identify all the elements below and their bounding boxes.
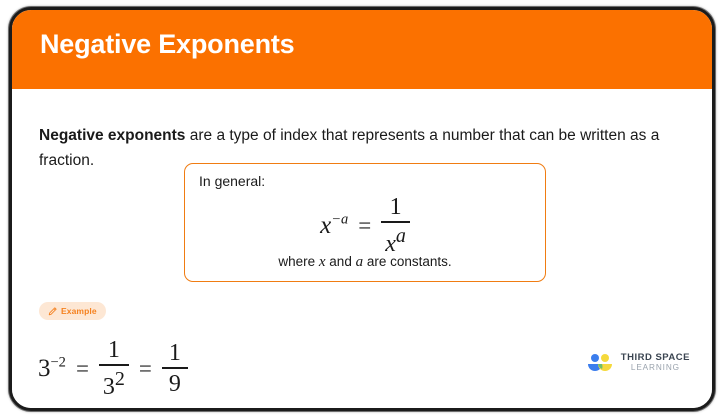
note-var-x: x (319, 254, 326, 270)
example-lhs-exponent: −2 (51, 354, 66, 370)
example-mid-denominator-base: 3 (103, 374, 115, 400)
general-lhs-base: x (320, 212, 331, 239)
card-header: Negative Exponents (12, 10, 712, 89)
logo-text: THIRD SPACE LEARNING (621, 353, 690, 372)
example-mid-denominator-exponent: 2 (115, 368, 125, 390)
general-rhs-numerator: 1 (386, 195, 406, 221)
general-lhs-exponent: −a (331, 211, 348, 227)
general-rhs-denominator-exponent: a (396, 225, 406, 247)
logo-line-2: LEARNING (631, 364, 680, 373)
intro-bold-lead: Negative exponents (39, 127, 185, 144)
example-badge: Example (39, 302, 106, 320)
lesson-card: Negative Exponents Negative exponents ar… (9, 7, 715, 411)
third-space-learning-logo: THIRD SPACE LEARNING (586, 352, 690, 374)
example-equals-2: = (138, 357, 153, 380)
note-var-a: a (356, 254, 364, 270)
general-label: In general: (199, 173, 265, 189)
general-rhs-denominator: xa (381, 223, 410, 256)
example-lhs-base: 3 (38, 355, 51, 382)
example-mid-fraction: 1 32 (99, 338, 129, 399)
pencil-icon (48, 307, 57, 316)
general-formula-box: In general: x−a = 1 xa where x and a are… (184, 163, 546, 282)
screenshot-root: Negative Exponents Negative exponents ar… (0, 0, 724, 420)
general-rhs-fraction: 1 xa (381, 195, 410, 256)
example-rhs-fraction: 1 9 (162, 341, 188, 396)
note-middle: and (326, 254, 356, 269)
example-badge-label: Example (61, 306, 97, 316)
general-equals: = (357, 214, 372, 237)
note-prefix: where (278, 254, 319, 269)
logo-mark-icon (586, 352, 614, 374)
general-lhs: x−a (320, 213, 348, 238)
example-equals-1: = (75, 357, 90, 380)
general-note: where x and a are constants. (185, 254, 545, 271)
general-formula: x−a = 1 xa (185, 195, 545, 256)
example-mid-denominator: 32 (99, 366, 129, 399)
example-mid-numerator: 1 (104, 338, 124, 364)
general-rhs-denominator-base: x (385, 231, 396, 257)
example-rhs-denominator: 9 (165, 369, 185, 396)
example-equation: 3−2 = 1 32 = 1 9 (38, 338, 188, 399)
example-lhs: 3−2 (38, 356, 66, 381)
card-body: Negative exponents are a type of index t… (12, 89, 712, 408)
page-title: Negative Exponents (40, 29, 294, 60)
example-rhs-numerator: 1 (165, 341, 185, 367)
note-suffix: are constants. (363, 254, 452, 269)
